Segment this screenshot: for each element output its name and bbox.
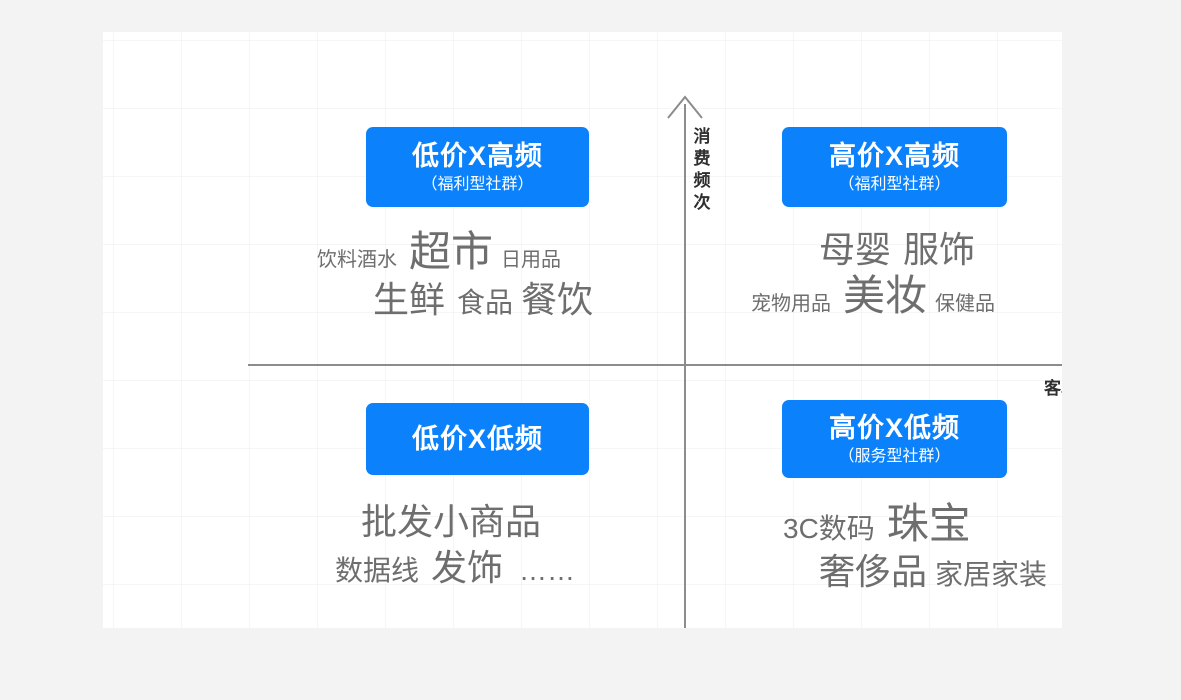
y-axis-line	[684, 104, 686, 628]
keyword: 家居家装	[935, 557, 1047, 593]
badge-subtitle: （福利型社群）	[421, 174, 533, 196]
keyword: 日用品	[501, 246, 561, 274]
arrow-up-icon	[666, 94, 704, 120]
keyword: 3C数码	[783, 511, 875, 547]
quadrant-badge-top-right[interactable]: 高价X高频 （福利型社群）	[782, 127, 1007, 207]
keyword: 发饰	[431, 546, 503, 590]
keyword: 美妆	[843, 272, 927, 320]
chart-card: 消费频次 客单价 低价X高频 （福利型社群） 高价X高频 （福利型社群） 低价X…	[103, 32, 1062, 628]
badge-subtitle: （福利型社群）	[838, 174, 950, 196]
keyword: 珠宝	[887, 500, 971, 548]
badge-title: 低价X高频	[412, 139, 543, 173]
diagram-canvas: 消费频次 客单价 低价X高频 （福利型社群） 高价X高频 （福利型社群） 低价X…	[0, 0, 1181, 700]
badge-title: 低价X低频	[412, 422, 543, 456]
quadrant-badge-bottom-left[interactable]: 低价X低频	[366, 403, 589, 475]
keyword: 餐饮	[521, 278, 593, 322]
keyword-cloud-bottom-right: 3C数码 珠宝 奢侈品 家居家装	[783, 500, 1047, 594]
keyword: 食品	[457, 285, 513, 321]
keyword: 生鲜	[373, 278, 445, 322]
keyword: 数据线	[335, 553, 419, 589]
keyword: 饮料酒水	[317, 246, 397, 274]
keyword: 奢侈品	[819, 550, 927, 594]
keyword: 宠物用品	[751, 290, 831, 318]
quadrant-badge-bottom-right[interactable]: 高价X低频 （服务型社群）	[782, 400, 1007, 478]
keyword-ellipsis: ……	[519, 553, 575, 589]
badge-title: 高价X低频	[829, 411, 960, 445]
badge-subtitle: （服务型社群）	[838, 446, 950, 468]
keyword-cloud-top-right: 母婴 服饰 宠物用品 美妆 保健品	[751, 228, 995, 320]
keyword-cloud-top-left: 饮料酒水 超市 日用品 生鲜 食品 餐饮	[317, 228, 593, 322]
keyword: 保健品	[935, 290, 995, 318]
keyword: 超市	[409, 228, 493, 276]
keyword: 母婴	[819, 228, 891, 272]
y-axis-label: 消费频次	[691, 126, 713, 214]
keyword: 服饰	[903, 228, 975, 272]
x-axis-line	[248, 364, 1062, 366]
badge-title: 高价X高频	[829, 139, 960, 173]
x-axis-label: 客单价	[1044, 374, 1062, 399]
keyword: 批发小商品	[361, 500, 541, 544]
keyword-cloud-bottom-left: 批发小商品 数据线 发饰 ……	[335, 500, 575, 590]
quadrant-badge-top-left[interactable]: 低价X高频 （福利型社群）	[366, 127, 589, 207]
